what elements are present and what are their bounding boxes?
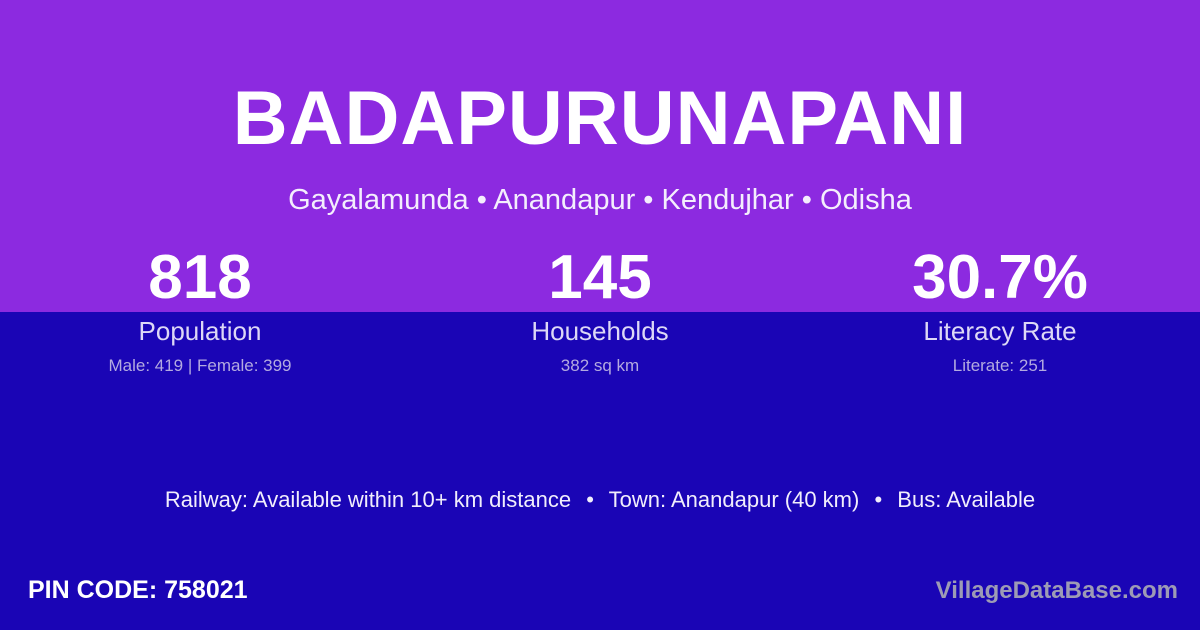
page-title: BADAPURUNAPANI xyxy=(0,76,1200,162)
breadcrumb: Gayalamunda • Anandapur • Kendujhar • Od… xyxy=(0,182,1200,218)
stat-literacy-rate-sub: Literate: 251 xyxy=(953,355,1048,376)
stat-households-label: Households xyxy=(531,316,668,347)
amenity-town: Town: Anandapur (40 km) xyxy=(609,487,860,512)
pin-code: PIN CODE: 758021 xyxy=(28,574,248,606)
stat-population-sub: Male: 419 | Female: 399 xyxy=(108,355,291,376)
site-watermark: VillageDataBase.com xyxy=(936,576,1178,606)
footer-bar: PIN CODE: 758021 VillageDataBase.com xyxy=(0,574,1200,614)
stat-literacy-rate-value: 30.7% xyxy=(912,244,1088,312)
amenity-railway: Railway: Available within 10+ km distanc… xyxy=(165,487,571,512)
village-info-card: BADAPURUNAPANI Gayalamunda • Anandapur •… xyxy=(0,0,1200,630)
amenities-line: Railway: Available within 10+ km distanc… xyxy=(0,486,1200,514)
amenity-separator-1: • xyxy=(577,486,603,514)
stat-literacy-rate: 30.7% Literacy Rate Literate: 251 xyxy=(800,244,1200,394)
stat-households: 145 Households 382 sq km xyxy=(400,244,800,394)
stat-population: 818 Population Male: 419 | Female: 399 xyxy=(0,244,400,394)
amenity-bus: Bus: Available xyxy=(897,487,1035,512)
stat-households-value: 145 xyxy=(548,244,651,312)
amenity-separator-2: • xyxy=(865,486,891,514)
stat-population-value: 818 xyxy=(148,244,251,312)
stat-households-sub: 382 sq km xyxy=(561,355,639,376)
stats-row: 818 Population Male: 419 | Female: 399 1… xyxy=(0,244,1200,394)
stat-population-label: Population xyxy=(139,316,262,347)
stat-literacy-rate-label: Literacy Rate xyxy=(923,316,1076,347)
